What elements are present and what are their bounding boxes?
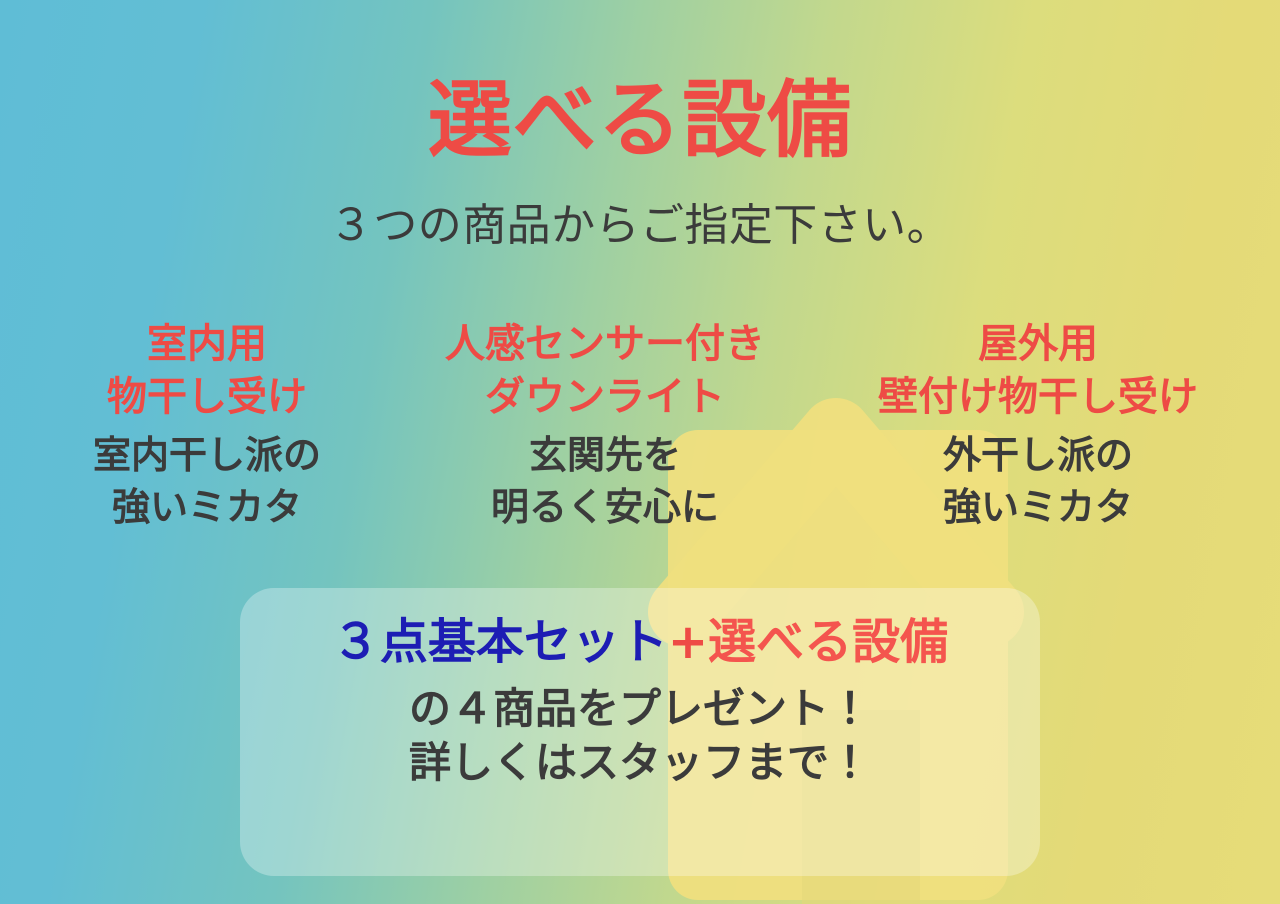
option-title: 室内用 物干し受け [42, 318, 372, 424]
page-subtitle: ３つの商品からご指定下さい。 [0, 204, 1280, 248]
promo-line-1: の４商品をプレゼント！ [409, 682, 871, 737]
option-title: 人感センサー付き ダウンライト [405, 318, 805, 424]
option-description: 室内干し派の 強いミカタ [42, 430, 372, 533]
option-card-indoor-drying-rack[interactable]: 室内用 物干し受け 室内干し派の 強いミカタ [42, 318, 372, 534]
promo-block: ３点基本セット+選べる設備 の４商品をプレゼント！ 詳しくはスタッフまで！ [240, 588, 1040, 876]
option-title: 屋外用 壁付け物干し受け [838, 318, 1238, 424]
option-description: 外干し派の 強いミカタ [838, 430, 1238, 533]
poster-content: 選べる設備 ３つの商品からご指定下さい。 室内用 物干し受け 室内干し派の 強い… [0, 0, 1280, 904]
promo-headline-plus: + [668, 614, 708, 670]
options-row: 室内用 物干し受け 室内干し派の 強いミカタ 人感センサー付き ダウンライト 玄… [42, 318, 1238, 534]
promo-poster: 選べる設備 ３つの商品からご指定下さい。 室内用 物干し受け 室内干し派の 強い… [0, 0, 1280, 904]
promo-line-2: 詳しくはスタッフまで！ [409, 736, 871, 791]
promo-headline: ３点基本セット+選べる設備 [332, 616, 948, 670]
option-card-motion-sensor-downlight[interactable]: 人感センサー付き ダウンライト 玄関先を 明るく安心に [405, 318, 805, 534]
option-card-outdoor-wall-drying-rack[interactable]: 屋外用 壁付け物干し受け 外干し派の 強いミカタ [838, 318, 1238, 534]
option-description: 玄関先を 明るく安心に [405, 430, 805, 533]
page-title: 選べる設備 [0, 78, 1280, 162]
promo-headline-selectable: 選べる設備 [708, 614, 948, 670]
promo-headline-base-set: ３点基本セット [332, 614, 668, 670]
